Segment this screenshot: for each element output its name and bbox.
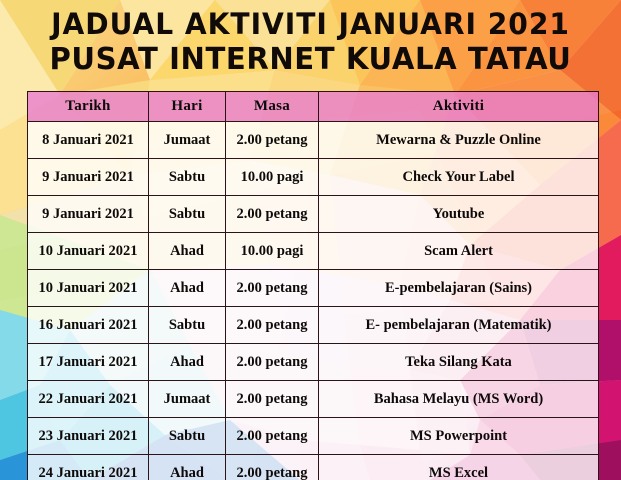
- column-header-hari: Hari: [149, 92, 226, 122]
- cell-tarikh: 22 Januari 2021: [28, 381, 149, 418]
- cell-tarikh: 17 Januari 2021: [28, 344, 149, 381]
- cell-hari: Ahad: [149, 233, 226, 270]
- title-line-1: JADUAL AKTIVITI JANUARI 2021: [9, 6, 611, 42]
- cell-masa: 2.00 petang: [226, 344, 319, 381]
- poster-title: JADUAL AKTIVITI JANUARI 2021 PUSAT INTER…: [0, 6, 621, 78]
- cell-masa: 2.00 petang: [226, 122, 319, 159]
- cell-masa: 2.00 petang: [226, 270, 319, 307]
- cell-tarikh: 23 Januari 2021: [28, 418, 149, 455]
- schedule-table: Tarikh Hari Masa Aktiviti 8 Januari 2021…: [27, 91, 599, 480]
- cell-aktiviti: E- pembelajaran (Matematik): [319, 307, 599, 344]
- table-row: 9 Januari 2021Sabtu2.00 petangYoutube: [28, 196, 599, 233]
- cell-tarikh: 8 Januari 2021: [28, 122, 149, 159]
- table-row: 16 Januari 2021Sabtu2.00 petangE- pembel…: [28, 307, 599, 344]
- cell-hari: Jumaat: [149, 381, 226, 418]
- table-row: 17 Januari 2021Ahad2.00 petangTeka Silan…: [28, 344, 599, 381]
- cell-masa: 10.00 pagi: [226, 233, 319, 270]
- header-row: Tarikh Hari Masa Aktiviti: [28, 92, 599, 122]
- cell-hari: Sabtu: [149, 159, 226, 196]
- schedule-table-container: Tarikh Hari Masa Aktiviti 8 Januari 2021…: [27, 91, 598, 480]
- column-header-tarikh: Tarikh: [28, 92, 149, 122]
- table-row: 8 Januari 2021Jumaat2.00 petangMewarna &…: [28, 122, 599, 159]
- cell-tarikh: 24 Januari 2021: [28, 455, 149, 480]
- cell-tarikh: 10 Januari 2021: [28, 270, 149, 307]
- table-body: 8 Januari 2021Jumaat2.00 petangMewarna &…: [28, 122, 599, 480]
- table-row: 22 Januari 2021Jumaat2.00 petangBahasa M…: [28, 381, 599, 418]
- table-row: 10 Januari 2021Ahad10.00 pagiScam Alert: [28, 233, 599, 270]
- cell-hari: Sabtu: [149, 196, 226, 233]
- table-row: 23 Januari 2021Sabtu2.00 petangMS Powerp…: [28, 418, 599, 455]
- cell-aktiviti: Scam Alert: [319, 233, 599, 270]
- cell-aktiviti: E-pembelajaran (Sains): [319, 270, 599, 307]
- cell-tarikh: 10 Januari 2021: [28, 233, 149, 270]
- cell-aktiviti: Teka Silang Kata: [319, 344, 599, 381]
- cell-aktiviti: Bahasa Melayu (MS Word): [319, 381, 599, 418]
- cell-aktiviti: MS Excel: [319, 455, 599, 480]
- cell-tarikh: 16 Januari 2021: [28, 307, 149, 344]
- cell-masa: 2.00 petang: [226, 381, 319, 418]
- table-head: Tarikh Hari Masa Aktiviti: [28, 92, 599, 122]
- table-row: 24 Januari 2021Ahad2.00 petangMS Excel: [28, 455, 599, 480]
- cell-aktiviti: Check Your Label: [319, 159, 599, 196]
- cell-hari: Jumaat: [149, 122, 226, 159]
- cell-hari: Ahad: [149, 455, 226, 480]
- cell-masa: 2.00 petang: [226, 196, 319, 233]
- cell-aktiviti: MS Powerpoint: [319, 418, 599, 455]
- cell-masa: 10.00 pagi: [226, 159, 319, 196]
- cell-hari: Ahad: [149, 344, 226, 381]
- cell-tarikh: 9 Januari 2021: [28, 196, 149, 233]
- cell-aktiviti: Mewarna & Puzzle Online: [319, 122, 599, 159]
- table-row: 10 Januari 2021Ahad2.00 petangE-pembelaj…: [28, 270, 599, 307]
- table-row: 9 Januari 2021Sabtu10.00 pagiCheck Your …: [28, 159, 599, 196]
- column-header-aktiviti: Aktiviti: [319, 92, 599, 122]
- cell-tarikh: 9 Januari 2021: [28, 159, 149, 196]
- column-header-masa: Masa: [226, 92, 319, 122]
- cell-hari: Sabtu: [149, 307, 226, 344]
- cell-masa: 2.00 petang: [226, 307, 319, 344]
- cell-hari: Ahad: [149, 270, 226, 307]
- cell-masa: 2.00 petang: [226, 455, 319, 480]
- title-line-2: PUSAT INTERNET KUALA TATAU: [9, 42, 611, 78]
- poster: JADUAL AKTIVITI JANUARI 2021 PUSAT INTER…: [0, 0, 621, 480]
- cell-aktiviti: Youtube: [319, 196, 599, 233]
- cell-hari: Sabtu: [149, 418, 226, 455]
- cell-masa: 2.00 petang: [226, 418, 319, 455]
